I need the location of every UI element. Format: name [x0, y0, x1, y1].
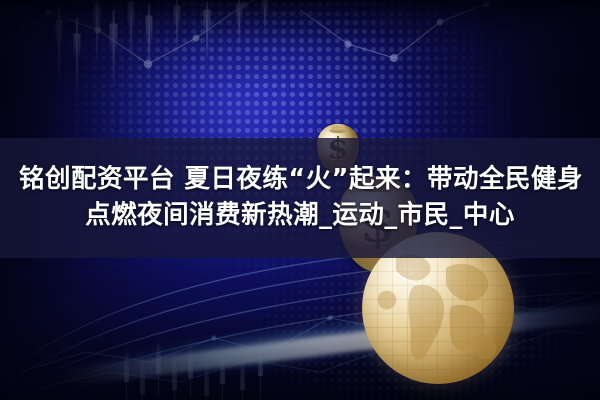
headline-line-1: 铭创配资平台 夏日夜练“火”起来：带动全民健身	[17, 163, 583, 197]
headline-text: 铭创配资平台 夏日夜练“火”起来：带动全民健身 点燃夜间消费新热潮_运动_市民_…	[0, 138, 600, 258]
headline-line-2: 点燃夜间消费新热潮_运动_市民_中心	[85, 199, 515, 233]
banner-image: $ $ 铭创配资平台 夏日夜练“火”起来：带动全民健身 点燃夜间消费新热潮_运动…	[0, 0, 600, 400]
